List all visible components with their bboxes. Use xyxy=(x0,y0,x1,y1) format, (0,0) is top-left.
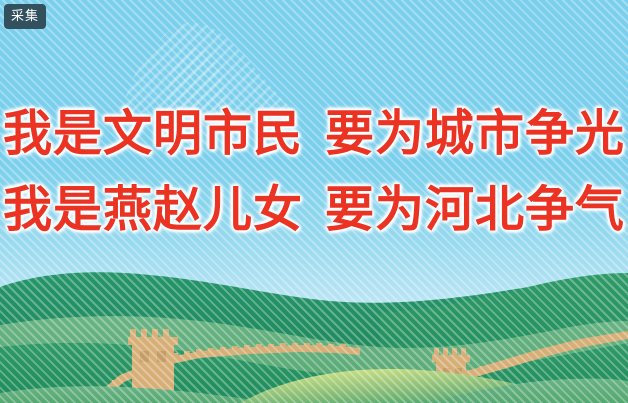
slogan-block: 我是文明市民要为城市争光 我是燕赵儿女要为河北争气 xyxy=(0,96,628,248)
slogan-line-2-left: 我是燕赵儿女 xyxy=(3,181,303,238)
slogan-line-1-right: 要为城市争光 xyxy=(325,105,625,162)
landscape-illustration xyxy=(0,243,628,403)
slogan-line-2-right: 要为河北争气 xyxy=(325,181,625,238)
slogan-line-2: 我是燕赵儿女要为河北争气 xyxy=(0,172,628,248)
slogan-line-1: 我是文明市民要为城市争光 xyxy=(0,96,628,172)
slogan-line-1-left: 我是文明市民 xyxy=(3,105,303,162)
poster-canvas: 我是文明市民要为城市争光 我是燕赵儿女要为河北争气 采集 xyxy=(0,0,628,403)
capture-button[interactable]: 采集 xyxy=(4,4,46,29)
